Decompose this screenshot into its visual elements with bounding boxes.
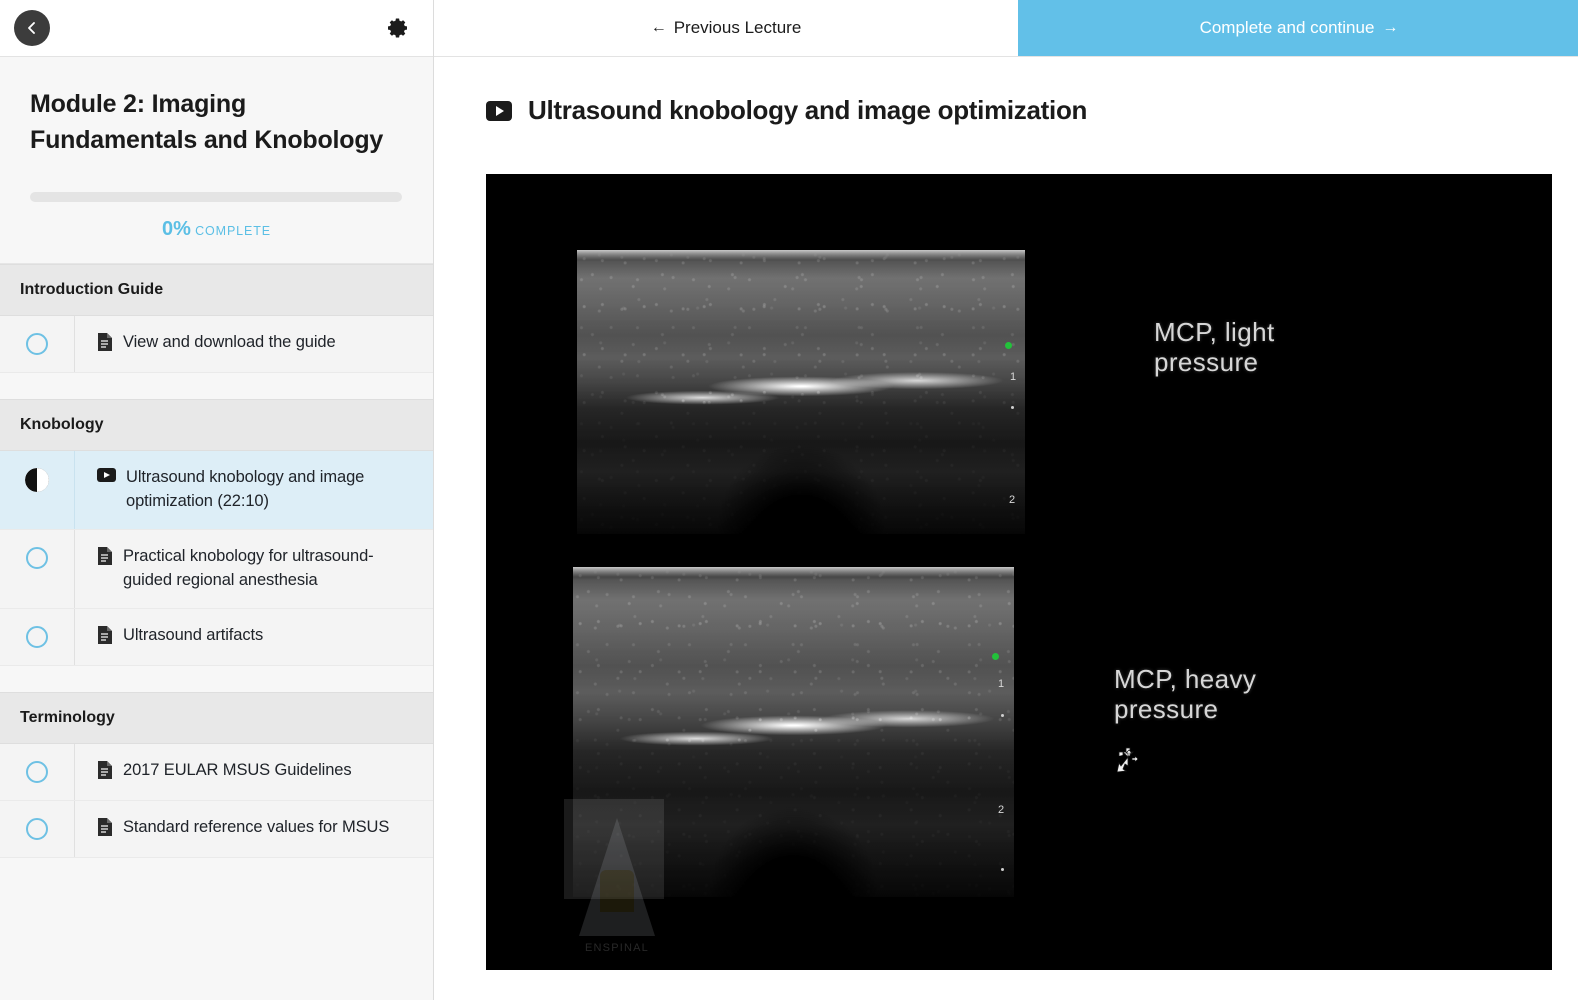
progress-complete-word: COMPLETE: [195, 224, 271, 238]
lesson-status[interactable]: [0, 744, 74, 783]
focus-marker-green-bottom: [992, 653, 999, 660]
document-icon: [97, 816, 113, 841]
lesson-status[interactable]: [0, 801, 74, 840]
watermark-logo: ENSPINAL: [575, 806, 659, 958]
lesson-body[interactable]: View and download the guide: [74, 316, 433, 372]
lecture-header: Ultrasound knobology and image optimizat…: [434, 57, 1580, 126]
lesson-label: 2017 EULAR MSUS Guidelines: [123, 759, 352, 783]
caption-light-pressure: MCP, light pressure: [1154, 317, 1275, 377]
lesson-item[interactable]: 2017 EULAR MSUS Guidelines: [0, 744, 433, 801]
lesson-item[interactable]: Standard reference values for MSUS: [0, 801, 433, 858]
main-content: ← Previous Lecture Complete and continue…: [434, 0, 1580, 1000]
empty-circle-icon: [26, 761, 48, 783]
lesson-label: View and download the guide: [123, 331, 336, 355]
watermark-box-icon: [600, 870, 634, 912]
ultrasound-image-light-pressure: [577, 250, 1025, 534]
sidebar-topbar: [0, 0, 433, 57]
caption-heavy-line1: MCP, heavy: [1114, 664, 1256, 694]
arrow-right-icon: →: [1382, 19, 1398, 37]
document-icon: [97, 624, 113, 649]
page-title: Ultrasound knobology and image optimizat…: [528, 95, 1087, 126]
gear-icon: [386, 16, 410, 40]
lesson-body[interactable]: Ultrasound artifacts: [74, 609, 433, 665]
section-divider: [0, 666, 433, 692]
lesson-body[interactable]: Practical knobology for ultrasound-guide…: [74, 530, 433, 608]
caption-light-line2: pressure: [1154, 347, 1275, 377]
lesson-label: Ultrasound artifacts: [123, 624, 263, 648]
depth-label-bottom-1: 1: [998, 678, 1004, 690]
depth-tick-bottom-1: [1001, 714, 1004, 717]
arrow-left-icon: ←: [651, 19, 667, 37]
focus-marker-green-top: [1005, 342, 1012, 349]
previous-lecture-button[interactable]: ← Previous Lecture: [434, 0, 1018, 56]
lecture-topnav: ← Previous Lecture Complete and continue…: [434, 0, 1580, 57]
empty-circle-icon: [26, 818, 48, 840]
progress-section: 0% COMPLETE: [30, 192, 403, 241]
section-header: Introduction Guide: [0, 264, 433, 316]
lesson-status[interactable]: [0, 609, 74, 648]
video-player[interactable]: 1 2 1 2 MCP, light pressure MCP, heavy p…: [486, 174, 1552, 970]
settings-button[interactable]: [383, 13, 413, 43]
section-header: Knobology: [0, 399, 433, 451]
depth-label-bottom-2: 2: [998, 804, 1004, 816]
empty-circle-icon: [26, 626, 48, 648]
depth-tick-top-1: [1011, 406, 1014, 409]
document-icon: [97, 545, 113, 570]
document-icon: [97, 759, 113, 784]
lesson-status[interactable]: [0, 316, 74, 355]
back-button[interactable]: [14, 10, 50, 46]
progress-label: 0% COMPLETE: [30, 218, 403, 241]
lesson-item[interactable]: View and download the guide: [0, 316, 433, 373]
progress-percent: 0%: [162, 218, 191, 240]
course-sidebar: Module 2: Imaging Fundamentals and Knobo…: [0, 0, 434, 1000]
module-title: Module 2: Imaging Fundamentals and Knobo…: [30, 87, 400, 158]
lesson-label: Practical knobology for ultrasound-guide…: [123, 545, 411, 593]
ultrasound-near-field-top: [577, 250, 1025, 260]
lesson-item[interactable]: Practical knobology for ultrasound-guide…: [0, 530, 433, 609]
previous-lecture-label: Previous Lecture: [674, 18, 802, 38]
lesson-status[interactable]: [0, 451, 74, 492]
half-circle-progress-icon: [25, 468, 49, 492]
caption-light-line1: MCP, light: [1154, 317, 1275, 347]
empty-circle-icon: [26, 547, 48, 569]
lesson-body[interactable]: Standard reference values for MSUS: [74, 801, 433, 857]
caption-heavy-pressure: MCP, heavy pressure: [1114, 664, 1256, 724]
lesson-item[interactable]: Ultrasound knobology and image optimizat…: [0, 451, 433, 530]
ultrasound-near-field-bottom: [573, 567, 1014, 577]
lesson-status[interactable]: [0, 530, 74, 569]
section-header: Terminology: [0, 692, 433, 744]
lesson-label: Standard reference values for MSUS: [123, 816, 389, 840]
depth-label-top-2: 2: [1009, 494, 1015, 506]
lesson-body[interactable]: 2017 EULAR MSUS Guidelines: [74, 744, 433, 800]
ultrasound-speckle-top: [577, 250, 1025, 534]
progress-bar-track: [30, 192, 402, 202]
complete-and-continue-button[interactable]: Complete and continue →: [1018, 0, 1580, 56]
complete-and-continue-label: Complete and continue: [1200, 18, 1375, 38]
curriculum-list: Introduction GuideView and download the …: [0, 264, 433, 1000]
depth-tick-bottom-2: [1001, 868, 1004, 871]
lesson-body[interactable]: Ultrasound knobology and image optimizat…: [74, 451, 433, 529]
chevron-left-icon: [24, 20, 40, 36]
video-icon: [486, 101, 512, 121]
video-icon: [97, 466, 116, 487]
course-player-page: Module 2: Imaging Fundamentals and Knobo…: [0, 0, 1580, 1000]
lesson-label: Ultrasound knobology and image optimizat…: [126, 466, 411, 514]
caption-heavy-line2: pressure: [1114, 694, 1256, 724]
document-icon: [97, 331, 113, 356]
depth-label-top-1: 1: [1010, 371, 1016, 383]
lesson-item[interactable]: Ultrasound artifacts: [0, 609, 433, 666]
watermark-text: ENSPINAL: [575, 942, 659, 954]
empty-circle-icon: [26, 333, 48, 355]
module-header: Module 2: Imaging Fundamentals and Knobo…: [0, 57, 433, 264]
move-crosshair-cursor: [1117, 746, 1143, 780]
section-divider: [0, 373, 433, 399]
